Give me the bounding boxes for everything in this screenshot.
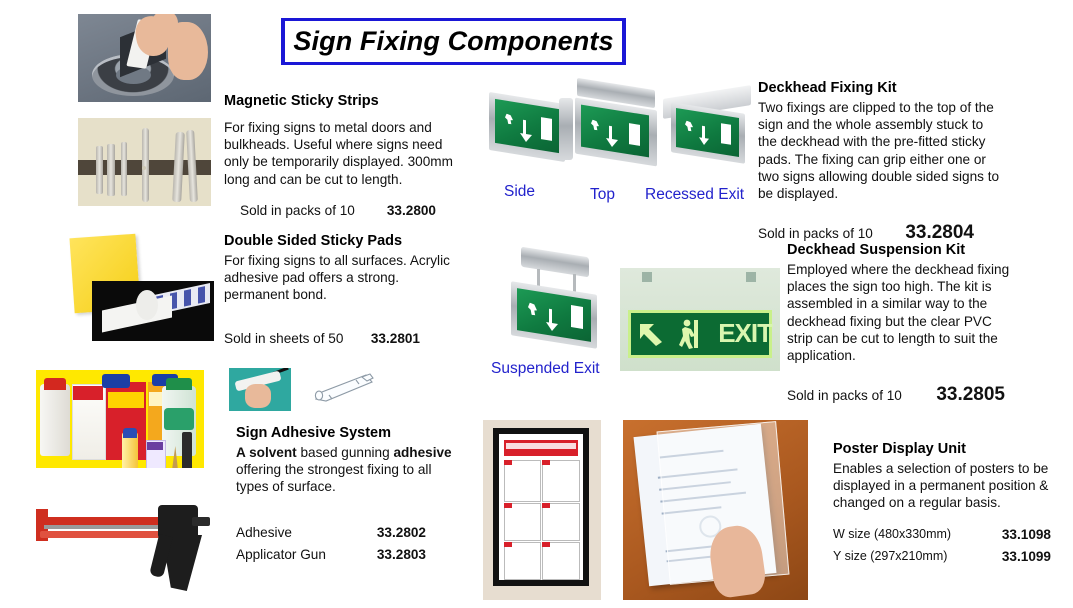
- section-magnetic-sticky-strips: Magnetic Sticky Strips For fixing signs …: [224, 92, 454, 220]
- label-recessed-exit: Recessed Exit: [645, 186, 744, 204]
- product-code: 33.1099: [1002, 548, 1051, 566]
- section-body: Two fixings are clipped to the top of th…: [758, 99, 1000, 202]
- section-body-mid: based gunning: [297, 445, 394, 460]
- order-label: Adhesive: [236, 524, 292, 542]
- exit-sign-top-image: [573, 84, 669, 170]
- section-body: A solvent based gunning adhesive offerin…: [236, 444, 456, 495]
- section-body: For fixing signs to metal doors and bulk…: [224, 119, 454, 188]
- exit-sign-recessed-image: [663, 92, 755, 170]
- section-heading: Double Sided Sticky Pads: [224, 232, 459, 250]
- section-poster-display-unit: Poster Display Unit Enables a selection …: [833, 440, 1065, 566]
- section-body: For fixing signs to all surfaces. Acryli…: [224, 252, 459, 303]
- section-sign-adhesive-system: Sign Adhesive System A solvent based gun…: [236, 424, 456, 564]
- label-top: Top: [590, 186, 615, 204]
- section-heading: Sign Adhesive System: [236, 424, 456, 442]
- section-double-sided-sticky-pads: Double Sided Sticky Pads For fixing sign…: [224, 232, 459, 348]
- order-label: Sold in sheets of 50: [224, 330, 343, 348]
- exit-sign-side-image: [489, 92, 581, 170]
- order-label: Sold in packs of 10: [787, 387, 902, 405]
- magnetic-tape-roll-photo: [78, 14, 211, 102]
- section-body-bold-1: A solvent: [236, 445, 297, 460]
- framed-poster-photo: [483, 420, 601, 600]
- magnetic-strip-knives-photo: [78, 118, 211, 206]
- section-heading: Deckhead Fixing Kit: [758, 79, 1000, 97]
- adhesive-gun-in-use-photo: [229, 368, 291, 411]
- poster-holder-in-use-photo: [623, 420, 808, 600]
- exit-sign-photo: EXIT: [620, 268, 780, 371]
- section-body-post: offering the strongest fixing to all typ…: [236, 462, 431, 494]
- product-code: 33.2803: [377, 546, 426, 564]
- order-label: Y size (297x210mm): [833, 548, 947, 566]
- section-heading: Deckhead Suspension Kit: [787, 241, 1015, 259]
- product-code: 33.2805: [936, 382, 1005, 408]
- product-code: 33.2800: [387, 202, 436, 220]
- product-code: 33.1098: [1002, 526, 1051, 544]
- page-title-box: Sign Fixing Components: [281, 18, 626, 65]
- order-label: W size (480x330mm): [833, 526, 951, 544]
- product-code: 33.2802: [377, 524, 426, 542]
- section-body-bold-2: adhesive: [393, 445, 451, 460]
- page-title: Sign Fixing Components: [293, 26, 613, 57]
- order-label: Applicator Gun: [236, 546, 326, 564]
- double-sided-pads-photo: [92, 281, 214, 341]
- applicator-gun-photo: [36, 495, 212, 595]
- section-heading: Magnetic Sticky Strips: [224, 92, 454, 110]
- section-body: Enables a selection of posters to be dis…: [833, 460, 1065, 511]
- section-deckhead-fixing-kit: Deckhead Fixing Kit Two fixings are clip…: [758, 79, 1000, 246]
- product-code: 33.2801: [371, 330, 420, 348]
- exit-sign-suspended-image: [495, 252, 611, 352]
- order-label: Sold in packs of 10: [240, 202, 355, 220]
- poster-title-band: [506, 443, 576, 449]
- adhesive-products-photo: [36, 370, 204, 468]
- section-deckhead-suspension-kit: Deckhead Suspension Kit Employed where t…: [787, 241, 1015, 408]
- label-side: Side: [504, 183, 535, 201]
- label-suspended-exit: Suspended Exit: [491, 360, 600, 378]
- applicator-gun-lineart: [312, 368, 378, 412]
- section-heading: Poster Display Unit: [833, 440, 1065, 458]
- exit-photo-text: EXIT: [718, 318, 772, 349]
- section-body: Employed where the deckhead fixing place…: [787, 261, 1015, 364]
